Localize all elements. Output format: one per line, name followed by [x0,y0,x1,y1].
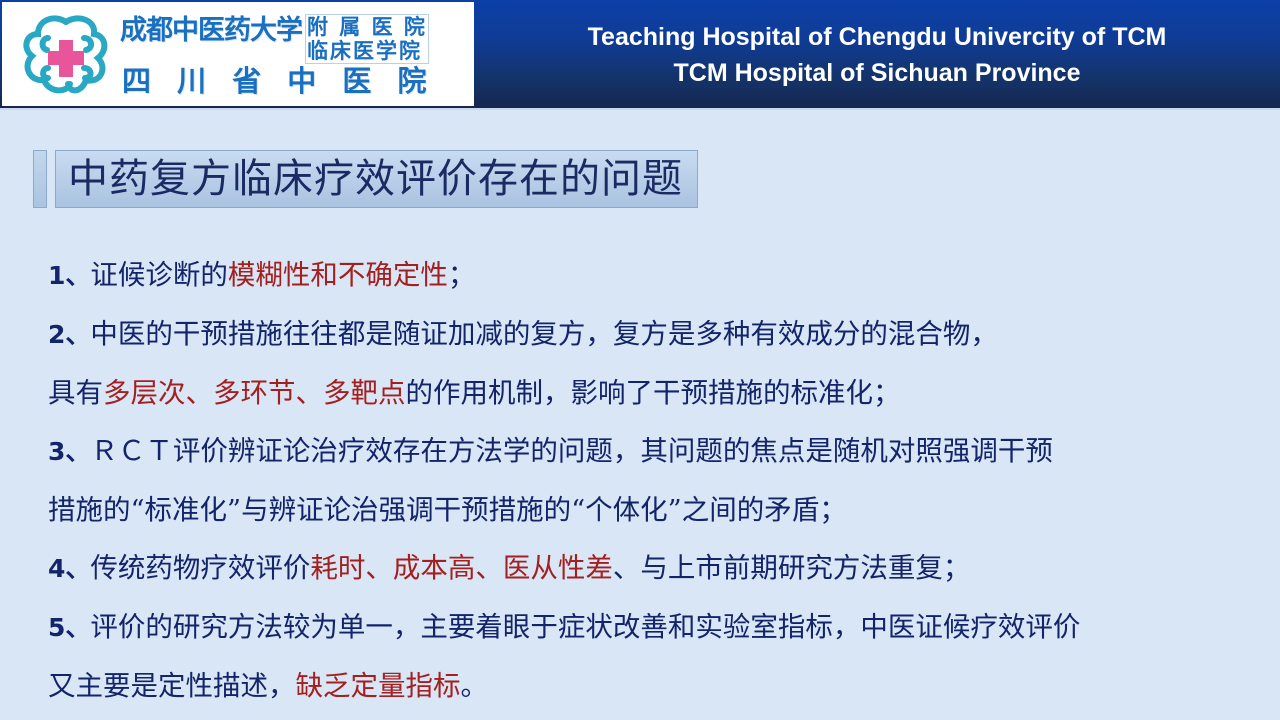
list-number: 3、 [48,437,90,466]
body-text-run: ＲＣＴ评价辨证论治疗效存在方法学的问题，其问题的焦点是随机对照强调干预 [90,435,1053,467]
body-line: 措施的“标准化”与辨证论治强调干预措施的“个体化”之间的矛盾； [48,481,1263,539]
body-line: 1、证候诊断的模糊性和不确定性； [48,246,1263,305]
list-number: 5、 [48,613,90,642]
emphasis-text: 模糊性和不确定性 [228,259,448,291]
lotus-cross-emblem-icon [14,8,118,100]
body-line: 2、中医的干预措施往往都是随证加减的复方，复方是多种有效成分的混合物， [48,305,1263,364]
body-text-run: 评价的研究方法较为单一，主要着眼于症状改善和实验室指标，中医证候疗效评价 [90,611,1080,643]
body-text-run: 传统药物疗效评价 [90,552,310,584]
emphasis-text: 缺乏定量指标 [296,670,461,702]
slide-header-banner: 成都中医药大学 附 属 医 院 临床医学院 四 川 省 中 医 院 Teachi… [0,0,1280,110]
list-number: 2、 [48,320,90,349]
header-title-line-1: Teaching Hospital of Chengdu Univercity … [588,19,1167,55]
logo-hospital-name: 四 川 省 中 医 院 [122,58,434,100]
presentation-slide: 成都中医药大学 附 属 医 院 临床医学院 四 川 省 中 医 院 Teachi… [0,0,1280,720]
body-text-run: 、与上市前期研究方法重复； [613,552,971,584]
header-title-line-2: TCM Hospital of Sichuan Province [674,55,1081,91]
body-line: 4、传统药物疗效评价耗时、成本高、医从性差、与上市前期研究方法重复； [48,539,1263,598]
body-line: 具有多层次、多环节、多靶点的作用机制，影响了干预措施的标准化； [48,364,1263,422]
hospital-logo-panel: 成都中医药大学 附 属 医 院 临床医学院 四 川 省 中 医 院 [2,2,474,106]
body-line: 3、ＲＣＴ评价辨证论治疗效存在方法学的问题，其问题的焦点是随机对照强调干预 [48,422,1263,481]
body-text-run: 证候诊断的 [90,259,228,291]
slide-body-text: 1、证候诊断的模糊性和不确定性；2、中医的干预措施往往都是随证加减的复方，复方是… [48,246,1263,715]
body-text-run: 又主要是定性描述， [48,670,296,702]
emphasis-text: 耗时、成本高、医从性差 [310,552,613,584]
header-divider [0,108,1280,110]
body-text-run: 的作用机制，影响了干预措施的标准化； [406,377,901,409]
logo-affiliate-box: 附 属 医 院 临床医学院 [305,14,429,64]
heading-box: 中药复方临床疗效评价存在的问题 [55,150,698,208]
slide-heading-row: 中药复方临床疗效评价存在的问题 [33,150,698,208]
header-english-titles: Teaching Hospital of Chengdu Univercity … [474,0,1280,110]
body-text-run: 中医的干预措施往往都是随证加减的复方，复方是多种有效成分的混合物， [90,318,998,350]
body-text-run: 具有 [48,377,103,409]
body-text-run: 措施的“标准化”与辨证论治强调干预措施的“个体化”之间的矛盾； [48,494,847,526]
body-line: 又主要是定性描述，缺乏定量指标。 [48,657,1263,715]
heading-accent-tab [33,150,47,208]
page-title: 中药复方临床疗效评价存在的问题 [68,157,683,201]
list-number: 1、 [48,261,90,290]
emphasis-text: 多层次、多环节、多靶点 [103,377,406,409]
body-text-run: ； [448,259,476,291]
list-number: 4、 [48,554,90,583]
hospital-logo-text: 成都中医药大学 附 属 医 院 临床医学院 四 川 省 中 医 院 [120,8,474,100]
logo-university-name: 成都中医药大学 [120,14,302,48]
body-text-run: 。 [461,670,489,702]
logo-affiliate-line-1: 附 属 医 院 [307,15,427,39]
body-line: 5、评价的研究方法较为单一，主要着眼于症状改善和实验室指标，中医证候疗效评价 [48,598,1263,657]
